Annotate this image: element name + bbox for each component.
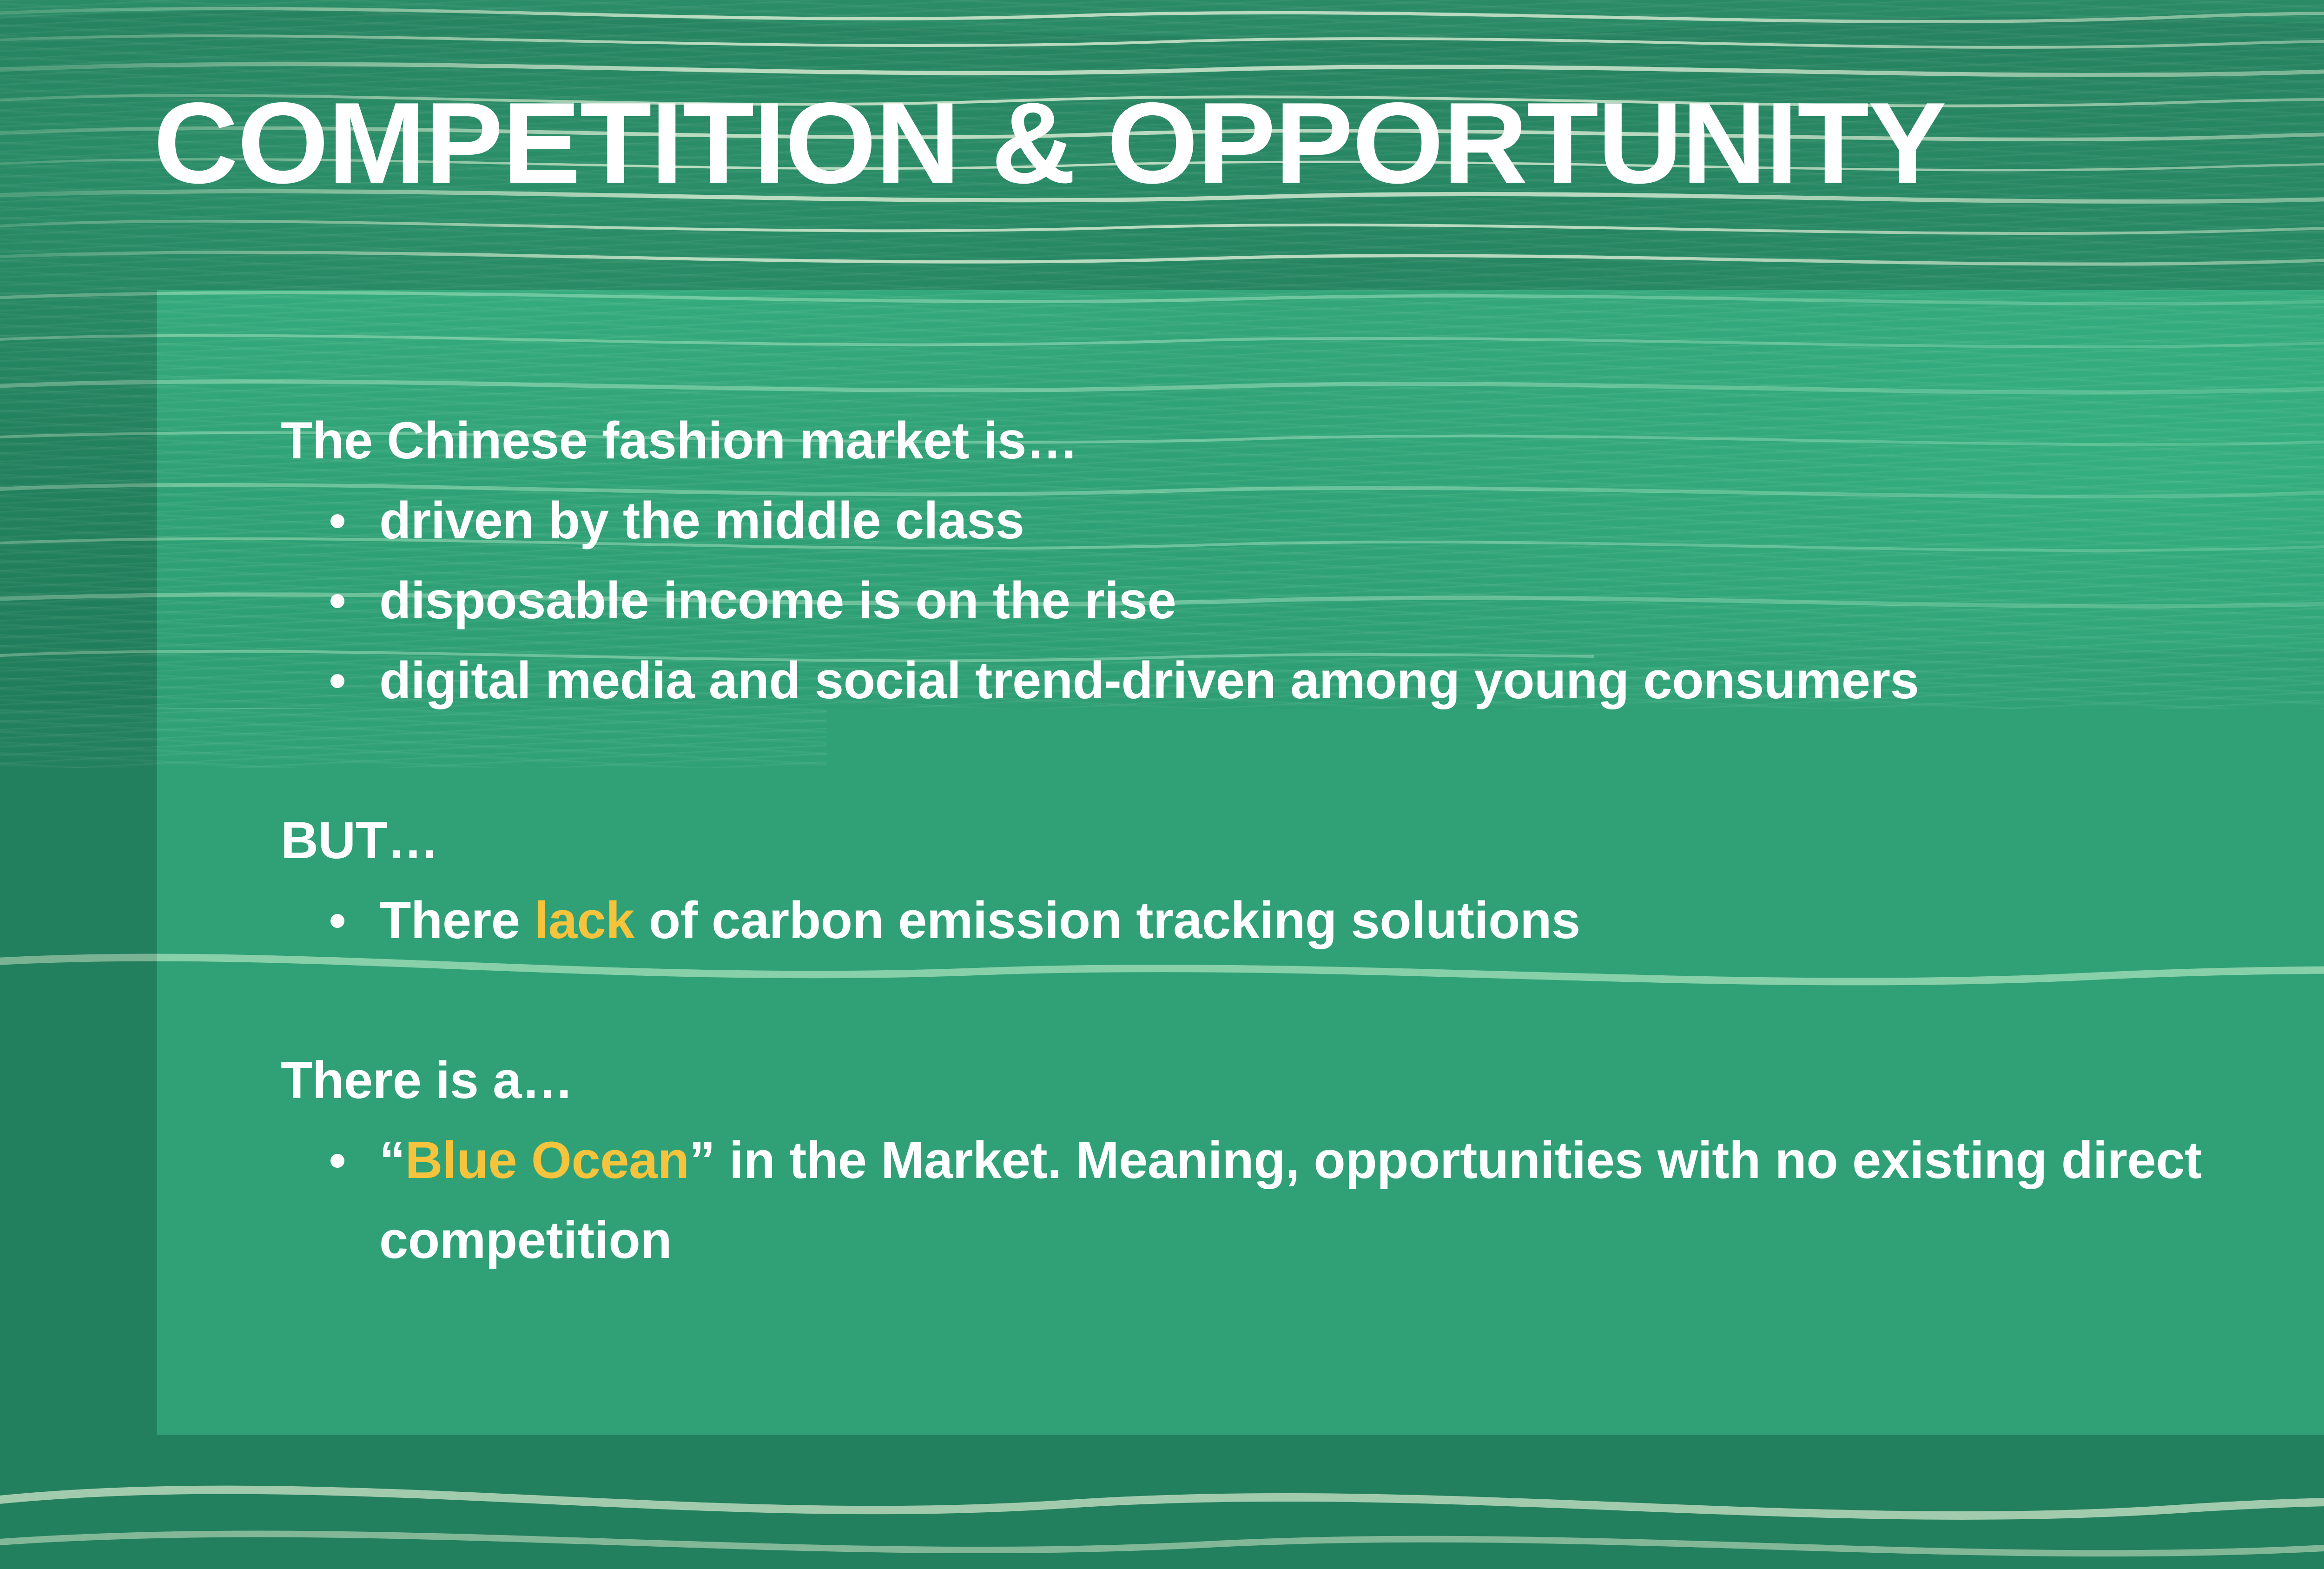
bullet-text-highlight: lack bbox=[534, 891, 634, 949]
bullet-dot-icon bbox=[330, 1154, 344, 1168]
bullet-text-highlight: Blue Ocean bbox=[405, 1131, 689, 1189]
section-lead: There is a… bbox=[281, 1040, 2324, 1120]
bullet-text-prefix: “ bbox=[379, 1131, 405, 1189]
bullet-list-market: driven by the middle class disposable in… bbox=[281, 481, 2324, 721]
section-lead: BUT… bbox=[281, 801, 2324, 880]
bullet-text-prefix: There bbox=[379, 891, 534, 949]
bullet-text: disposable income is on the rise bbox=[379, 561, 2324, 641]
bullet-text-suffix: of carbon emission tracking solutions bbox=[634, 891, 1580, 949]
slide-canvas: COMPETITION & OPPORTUNITY The Chinese fa… bbox=[0, 0, 2324, 1569]
bullet-dot-icon bbox=[330, 914, 344, 928]
list-item: disposable income is on the rise bbox=[281, 561, 2324, 641]
section-spacer bbox=[281, 960, 2324, 1040]
page-title: COMPETITION & OPPORTUNITY bbox=[153, 85, 2324, 201]
bullet-list-gap: There lack of carbon emission tracking s… bbox=[281, 880, 2324, 960]
bullet-dot-icon bbox=[330, 674, 344, 688]
list-item: “Blue Ocean” in the Market. Meaning, opp… bbox=[281, 1120, 2324, 1280]
bullet-list-opportunity: “Blue Ocean” in the Market. Meaning, opp… bbox=[281, 1120, 2324, 1280]
bullet-dot-icon bbox=[330, 514, 344, 528]
list-item: digital media and social trend-driven am… bbox=[281, 641, 2324, 721]
section-lead: The Chinese fashion market is… bbox=[281, 401, 2324, 481]
bullet-text: “Blue Ocean” in the Market. Meaning, opp… bbox=[379, 1120, 2324, 1280]
bullet-dot-icon bbox=[330, 594, 344, 608]
bullet-text: There lack of carbon emission tracking s… bbox=[379, 880, 2324, 960]
bullet-text: driven by the middle class bbox=[379, 481, 2324, 561]
list-item: driven by the middle class bbox=[281, 481, 2324, 561]
list-item: There lack of carbon emission tracking s… bbox=[281, 880, 2324, 960]
section-spacer bbox=[281, 721, 2324, 801]
bullet-text: digital media and social trend-driven am… bbox=[379, 641, 2324, 721]
body-content: The Chinese fashion market is… driven by… bbox=[281, 401, 2324, 1280]
